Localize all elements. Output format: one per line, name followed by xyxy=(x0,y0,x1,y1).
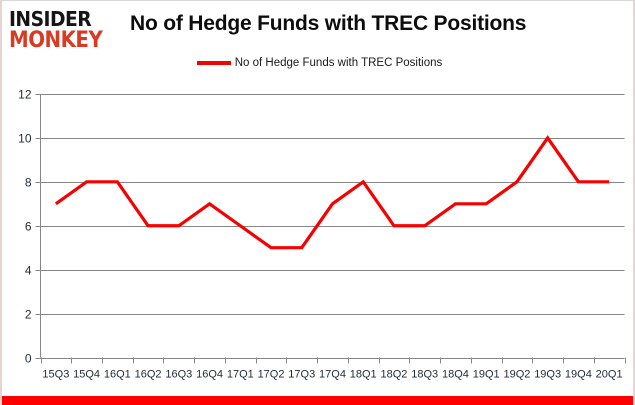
logo-text-insider: INSIDER xyxy=(9,9,125,29)
insider-monkey-logo: INSIDER MONKEY xyxy=(9,9,121,51)
x-tick-label: 17Q3 xyxy=(288,369,315,381)
y-tick-label: 10 xyxy=(18,132,32,146)
y-tick-label: 8 xyxy=(25,176,32,190)
logo-text-monkey: MONKEY xyxy=(9,30,121,52)
x-tick-label: 19Q2 xyxy=(503,369,530,381)
page-title: No of Hedge Funds with TREC Positions xyxy=(130,12,526,36)
page-header: INSIDER MONKEY No of Hedge Funds with TR… xyxy=(2,1,635,53)
x-tick-label: 16Q4 xyxy=(196,369,223,381)
y-tick-label: 2 xyxy=(25,308,32,322)
y-tick-label: 0 xyxy=(25,352,32,366)
x-tick-label: 17Q2 xyxy=(258,369,285,381)
x-tick-label: 18Q2 xyxy=(381,369,408,381)
x-tick-label: 16Q2 xyxy=(135,369,162,381)
x-tick-label: 19Q3 xyxy=(534,369,561,381)
x-tick-label: 16Q3 xyxy=(165,369,192,381)
legend-item: No of Hedge Funds with TREC Positions xyxy=(197,57,443,69)
x-tick-label: 15Q4 xyxy=(73,369,100,381)
x-tick-label: 17Q4 xyxy=(319,369,346,381)
x-tick-label: 20Q1 xyxy=(596,369,623,381)
y-tick-label: 4 xyxy=(25,264,32,278)
bottom-accent-bar xyxy=(2,396,635,405)
gridlines-group xyxy=(36,95,625,359)
x-tick-label: 18Q4 xyxy=(442,369,469,381)
x-axis-labels-group: 15Q315Q416Q116Q216Q316Q417Q117Q217Q317Q4… xyxy=(42,369,622,381)
x-tick-label: 16Q1 xyxy=(104,369,131,381)
x-tick-label: 18Q3 xyxy=(411,369,438,381)
x-tick-label: 19Q1 xyxy=(473,369,500,381)
line-chart-svg: 024681012 15Q315Q416Q116Q216Q316Q417Q117… xyxy=(2,81,635,391)
x-tick-label: 19Q4 xyxy=(565,369,592,381)
legend-label: No of Hedge Funds with TREC Positions xyxy=(235,57,443,69)
series-line-trec xyxy=(56,138,609,248)
x-tick-label: 18Q1 xyxy=(350,369,377,381)
y-tick-label: 12 xyxy=(18,88,32,102)
chart-plot-area: 024681012 15Q315Q416Q116Q216Q316Q417Q117… xyxy=(2,81,635,391)
x-tick-label: 15Q3 xyxy=(42,369,69,381)
x-tick-label: 17Q1 xyxy=(227,369,254,381)
chart-page: INSIDER MONKEY No of Hedge Funds with TR… xyxy=(0,0,635,405)
legend-swatch-icon xyxy=(197,61,231,65)
y-axis-labels-group: 024681012 xyxy=(18,88,32,366)
chart-legend: No of Hedge Funds with TREC Positions xyxy=(2,57,635,69)
y-tick-label: 6 xyxy=(25,220,32,234)
